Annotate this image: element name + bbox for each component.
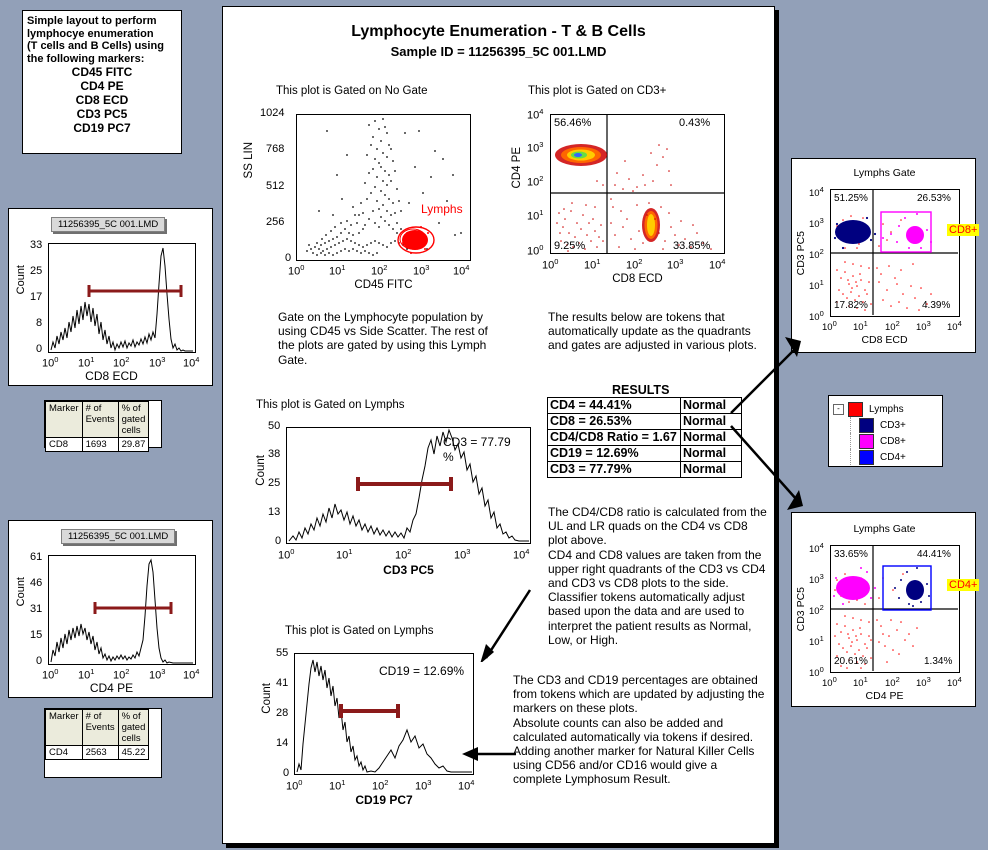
legend-label-cd8: CD8+ — [880, 436, 906, 447]
plot3-marker-bar[interactable] — [355, 475, 454, 493]
header-marker: Marker — [46, 402, 83, 438]
rplotB-frame — [830, 545, 960, 673]
gate-label-plot1: This plot is Gated on No Gate — [276, 85, 428, 97]
cell-marker: CD4 — [46, 746, 83, 760]
legend-swatch-lymphs — [848, 402, 863, 417]
cd4-hist-xtick-1: 101 — [78, 667, 94, 682]
plot2-ytick-1: 101 — [527, 208, 543, 223]
cd8-hist-ytick-33: 33 — [30, 239, 42, 251]
results-label: CD4/CD8 Ratio = 1.67 — [548, 430, 681, 446]
header-pct: % of gated cells — [118, 710, 149, 746]
plot2-xtick-4: 104 — [709, 257, 725, 272]
plot3-ytick-38: 38 — [268, 448, 280, 460]
plot4-marker-bar[interactable] — [338, 702, 401, 720]
cell-pct: 45.22 — [118, 746, 149, 760]
results-table: CD4 = 44.41% Normal CD8 = 26.53% Normal … — [547, 397, 742, 478]
rplotA-xtick-3: 103 — [916, 319, 931, 333]
rplotA-xtick-2: 102 — [885, 319, 900, 333]
legend-swatch-cd4 — [859, 450, 874, 465]
rplotB-region-label[interactable]: CD4+ — [947, 579, 979, 591]
plot2-xtick-0: 100 — [542, 257, 558, 272]
plot3-xtick-4: 104 — [513, 547, 529, 562]
plot4-xtick-3: 103 — [415, 778, 431, 793]
results-row: CD4/CD8 Ratio = 1.67 Normal — [548, 430, 742, 446]
cd4-hist-xtick-4: 104 — [183, 667, 199, 682]
plot4-xtick-4: 104 — [458, 778, 474, 793]
collapse-expander-icon[interactable]: - — [833, 404, 844, 415]
legend-label-cd3: CD3+ — [880, 420, 906, 431]
plot1-gate-label: Lymphs — [421, 202, 463, 216]
cd8-stats-table: Marker # of Events % of gated cells CD8 … — [45, 401, 149, 452]
plot4-xlabel: CD19 PC7 — [294, 793, 474, 807]
cd8-hist-marker-bar[interactable] — [87, 283, 183, 299]
cd4-stats-wrapper: Marker # of Events % of gated cells CD4 … — [44, 708, 162, 778]
plot1-ytick-1024: 1024 — [260, 107, 284, 119]
plot3-xtick-2: 102 — [395, 547, 411, 562]
main-report-panel: Lymphocyte Enumeration - T & B Cells Sam… — [222, 6, 775, 844]
rplotA-quad-lr: 4.39% — [922, 300, 950, 311]
cd4-hist-ytick-61: 61 — [30, 551, 42, 563]
plot1-xtick-3: 103 — [413, 263, 429, 278]
plot2-xtick-2: 102 — [626, 257, 642, 272]
header-events: # of Events — [82, 402, 118, 438]
plot2-ytick-0: 100 — [527, 243, 543, 258]
para-gate-description: Gate on the Lymphocyte population by usi… — [278, 310, 493, 367]
rplotB-ytick-1: 101 — [809, 634, 824, 648]
rplotB-xlabel: CD4 PE — [792, 690, 977, 702]
plot3-xtick-0: 100 — [278, 547, 294, 562]
cd8-hist-ytick-25: 25 — [30, 265, 42, 277]
plot1-xlabel: CD45 FITC — [296, 279, 471, 291]
cell-events: 1693 — [82, 438, 118, 452]
plot2-xtick-1: 101 — [584, 257, 600, 272]
results-label: CD4 = 44.41% — [548, 398, 681, 414]
results-row: CD3 = 77.79% Normal — [548, 462, 742, 478]
file-label-cd4: 11256395_5C 001.LMD — [61, 529, 175, 544]
cd4-stats-table: Marker # of Events % of gated cells CD4 … — [45, 709, 149, 760]
rplotB-ytick-4: 104 — [809, 541, 824, 555]
plot2-scatter — [551, 115, 724, 253]
rplotB-quad-ur: 44.41% — [917, 549, 951, 560]
plot2-ylabel: CD4 PE — [511, 147, 523, 189]
results-label: CD8 = 26.53% — [548, 414, 681, 430]
file-label-cd8: 11256395_5C 001.LMD — [51, 217, 165, 232]
plot1-frame — [296, 114, 471, 261]
plot4-xtick-0: 100 — [286, 778, 302, 793]
plot2-frame — [550, 114, 725, 254]
rplotA-scatter — [831, 190, 958, 315]
rplotA-quad-ur: 26.53% — [917, 193, 951, 204]
cd8-histogram-panel: 11256395_5C 001.LMD Count 33 25 17 8 0 C… — [8, 208, 213, 386]
cd8-hist-ytick-17: 17 — [30, 291, 42, 303]
population-legend: - Lymphs CD3+ CD8+ CD4+ — [828, 395, 943, 467]
page-subtitle: Sample ID = 11256395_5C 001.LMD — [223, 44, 774, 59]
plot1-xtick-0: 100 — [288, 263, 304, 278]
gate-label-plot4: This plot is Gated on Lymphs — [285, 625, 434, 637]
rplotB-xtick-0: 100 — [822, 675, 837, 689]
plot4-annotation: CD19 = 12.69% — [379, 664, 464, 678]
para-tokens-description: The CD3 and CD19 percentages are obtaine… — [513, 673, 765, 787]
cd4-histogram-panel: 11256395_5C 001.LMD Count 61 46 31 15 0 … — [8, 520, 213, 698]
rplotA-quad-ll: 17.82% — [834, 300, 868, 311]
plot2-xlabel: CD8 ECD — [550, 273, 725, 285]
plot2-quad-ll: 9.25% — [554, 240, 585, 252]
cd8-hist-ylabel: Count — [15, 265, 27, 294]
cd4-hist-marker-bar[interactable] — [93, 600, 173, 616]
cd8-stats-wrapper: Marker # of Events % of gated cells CD8 … — [44, 400, 162, 448]
rplotA-title: Lymphs Gate — [792, 167, 977, 179]
plot1-xtick-2: 102 — [371, 263, 387, 278]
description-box: Simple layout to perform lymphocye enume… — [22, 10, 182, 154]
marker-cd3: CD3 PC5 — [27, 107, 177, 121]
rplotA-ytick-4: 104 — [809, 185, 824, 199]
plot4-ylabel: Count — [261, 683, 273, 714]
rplotB-xtick-4: 104 — [947, 675, 962, 689]
rplotA-ytick-1: 101 — [809, 278, 824, 292]
cd4-hist-ylabel: Count — [15, 577, 27, 606]
plot3-xtick-1: 101 — [336, 547, 352, 562]
rplotB-xtick-2: 102 — [885, 675, 900, 689]
cd8-hist-ytick-8: 8 — [36, 317, 42, 329]
cd8-hist-xtick-0: 100 — [42, 355, 58, 370]
results-title: RESULTS — [612, 383, 669, 397]
rplotA-xlabel: CD8 ECD — [792, 334, 977, 346]
plot1-ytick-768: 768 — [266, 143, 284, 155]
rplotA-quad-ul: 51.25% — [834, 193, 868, 204]
results-row: CD4 = 44.41% Normal — [548, 398, 742, 414]
plot3-ytick-25: 25 — [268, 477, 280, 489]
plot1-ytick-512: 512 — [266, 180, 284, 192]
legend-row-cd4[interactable]: CD4+ — [850, 449, 938, 465]
plot3-annotation: CD3 = 77.79 % — [443, 435, 513, 465]
plot3-ylabel: Count — [255, 455, 267, 486]
table-header-row: Marker # of Events % of gated cells — [46, 402, 149, 438]
marker-cd45: CD45 FITC — [27, 65, 177, 79]
para-ratio-description: The CD4/CD8 ratio is calculated from the… — [548, 505, 770, 647]
cd8-hist-xtick-1: 101 — [78, 355, 94, 370]
results-label: CD3 = 77.79% — [548, 462, 681, 478]
plot1-ylabel: SS LIN — [243, 142, 255, 178]
cd4-hist-ytick-0: 0 — [36, 655, 42, 667]
cd8-hist-xtick-2: 102 — [113, 355, 129, 370]
rplotA-ylabel: CD3 PC5 — [795, 231, 807, 275]
rplotB-quad-ll: 20.61% — [834, 656, 868, 667]
arrow-to-cd19-plot — [458, 742, 518, 766]
description-lead: Simple layout to perform lymphocye enume… — [27, 15, 177, 65]
arrow-results-to-cd8-plot — [725, 335, 805, 420]
table-row: CD4 2563 45.22 — [46, 746, 149, 760]
plot3-xtick-3: 103 — [454, 547, 470, 562]
plot4-ytick-14: 14 — [276, 737, 288, 749]
cell-events: 2563 — [82, 746, 118, 760]
plot4-xtick-2: 102 — [372, 778, 388, 793]
plot2-quad-ul: 56.46% — [554, 117, 591, 129]
rplotA-ytick-2: 102 — [809, 247, 824, 261]
arrow-from-cd3-plot — [478, 582, 538, 662]
plot3-ytick-50: 50 — [268, 420, 280, 432]
plot2-ytick-3: 103 — [527, 140, 543, 155]
arrow-results-to-cd4-plot — [725, 420, 810, 515]
cell-marker: CD8 — [46, 438, 83, 452]
plot4-ytick-41: 41 — [276, 677, 288, 689]
rplotB-title: Lymphs Gate — [792, 523, 977, 535]
legend-row-cd8[interactable]: CD8+ — [850, 433, 938, 449]
plot2-ytick-2: 102 — [527, 174, 543, 189]
rplotA-ytick-3: 103 — [809, 216, 824, 230]
rplotB-quad-lr: 1.34% — [924, 656, 952, 667]
header-events: # of Events — [82, 710, 118, 746]
cd4-hist-ytick-15: 15 — [30, 629, 42, 641]
rplotA-xtick-4: 104 — [947, 319, 962, 333]
marker-cd19: CD19 PC7 — [27, 121, 177, 135]
plot3-ytick-13: 13 — [268, 506, 280, 518]
cell-pct: 29.87 — [118, 438, 149, 452]
plot2-xtick-3: 103 — [667, 257, 683, 272]
rplotA-xtick-1: 101 — [853, 319, 868, 333]
plot3-xlabel: CD3 PC5 — [286, 563, 531, 577]
marker-cd4: CD4 PE — [27, 79, 177, 93]
page-title: Lymphocyte Enumeration - T & B Cells — [223, 23, 774, 41]
plot1-scatter — [297, 115, 470, 260]
rplotB-quad-ul: 33.65% — [834, 549, 868, 560]
rplotB-ytick-2: 102 — [809, 603, 824, 617]
cd8-hist-xtick-3: 103 — [149, 355, 165, 370]
cd4-hist-xtick-3: 103 — [149, 667, 165, 682]
plot2-quad-ur: 0.43% — [679, 117, 710, 129]
plot4-ytick-28: 28 — [276, 707, 288, 719]
table-row: CD8 1693 29.87 — [46, 438, 149, 452]
rplotB-ylabel: CD3 PC5 — [795, 587, 807, 631]
legend-label-lymphs: Lymphs — [869, 404, 904, 415]
cd4-hist-xtick-0: 100 — [42, 667, 58, 682]
plot2-ytick-4: 104 — [527, 107, 543, 122]
cd4-hist-ytick-46: 46 — [30, 577, 42, 589]
plot4-xtick-1: 101 — [329, 778, 345, 793]
plot1-ytick-256: 256 — [266, 216, 284, 228]
rplotB-xtick-3: 103 — [916, 675, 931, 689]
cd4-hist-xtick-2: 102 — [113, 667, 129, 682]
cd4-hist-ytick-31: 31 — [30, 603, 42, 615]
legend-row-cd3[interactable]: CD3+ — [850, 417, 938, 433]
cd8-hist-ytick-0: 0 — [36, 343, 42, 355]
header-pct: % of gated cells — [118, 402, 149, 438]
legend-swatch-cd3 — [859, 418, 874, 433]
cd4-cd3-quadrant-panel: Lymphs Gate CD3 PC5 104 103 102 101 100 — [791, 512, 976, 707]
cd8-cd3-quadrant-panel: Lymphs Gate CD3 PC5 104 103 102 101 100 — [791, 158, 976, 353]
header-marker: Marker — [46, 710, 83, 746]
plot2-quad-lr: 33.85% — [673, 240, 710, 252]
rplotA-frame — [830, 189, 960, 317]
legend-swatch-cd8 — [859, 434, 874, 449]
results-row: CD8 = 26.53% Normal — [548, 414, 742, 430]
results-row: CD19 = 12.69% Normal — [548, 446, 742, 462]
table-header-row: Marker # of Events % of gated cells — [46, 710, 149, 746]
plot1-xtick-1: 101 — [329, 263, 345, 278]
legend-root-row[interactable]: - Lymphs — [833, 401, 938, 417]
marker-cd8: CD8 ECD — [27, 93, 177, 107]
rplotB-xtick-1: 101 — [853, 675, 868, 689]
results-label: CD19 = 12.69% — [548, 446, 681, 462]
rplotB-scatter — [831, 546, 958, 671]
legend-label-cd4: CD4+ — [880, 452, 906, 463]
gate-label-plot2: This plot is Gated on CD3+ — [528, 85, 666, 97]
plot4-ytick-55: 55 — [276, 647, 288, 659]
plot1-xtick-4: 104 — [453, 263, 469, 278]
rplotA-region-label[interactable]: CD8+ — [947, 224, 979, 236]
gate-label-plot3: This plot is Gated on Lymphs — [256, 399, 405, 411]
plot3-ytick-0: 0 — [275, 535, 281, 547]
cd8-hist-xtick-4: 104 — [183, 355, 199, 370]
rplotB-ytick-3: 103 — [809, 572, 824, 586]
cd4-hist-xlabel: CD4 PE — [9, 681, 214, 695]
rplotA-xtick-0: 100 — [822, 319, 837, 333]
cd8-hist-xlabel: CD8 ECD — [9, 369, 214, 383]
